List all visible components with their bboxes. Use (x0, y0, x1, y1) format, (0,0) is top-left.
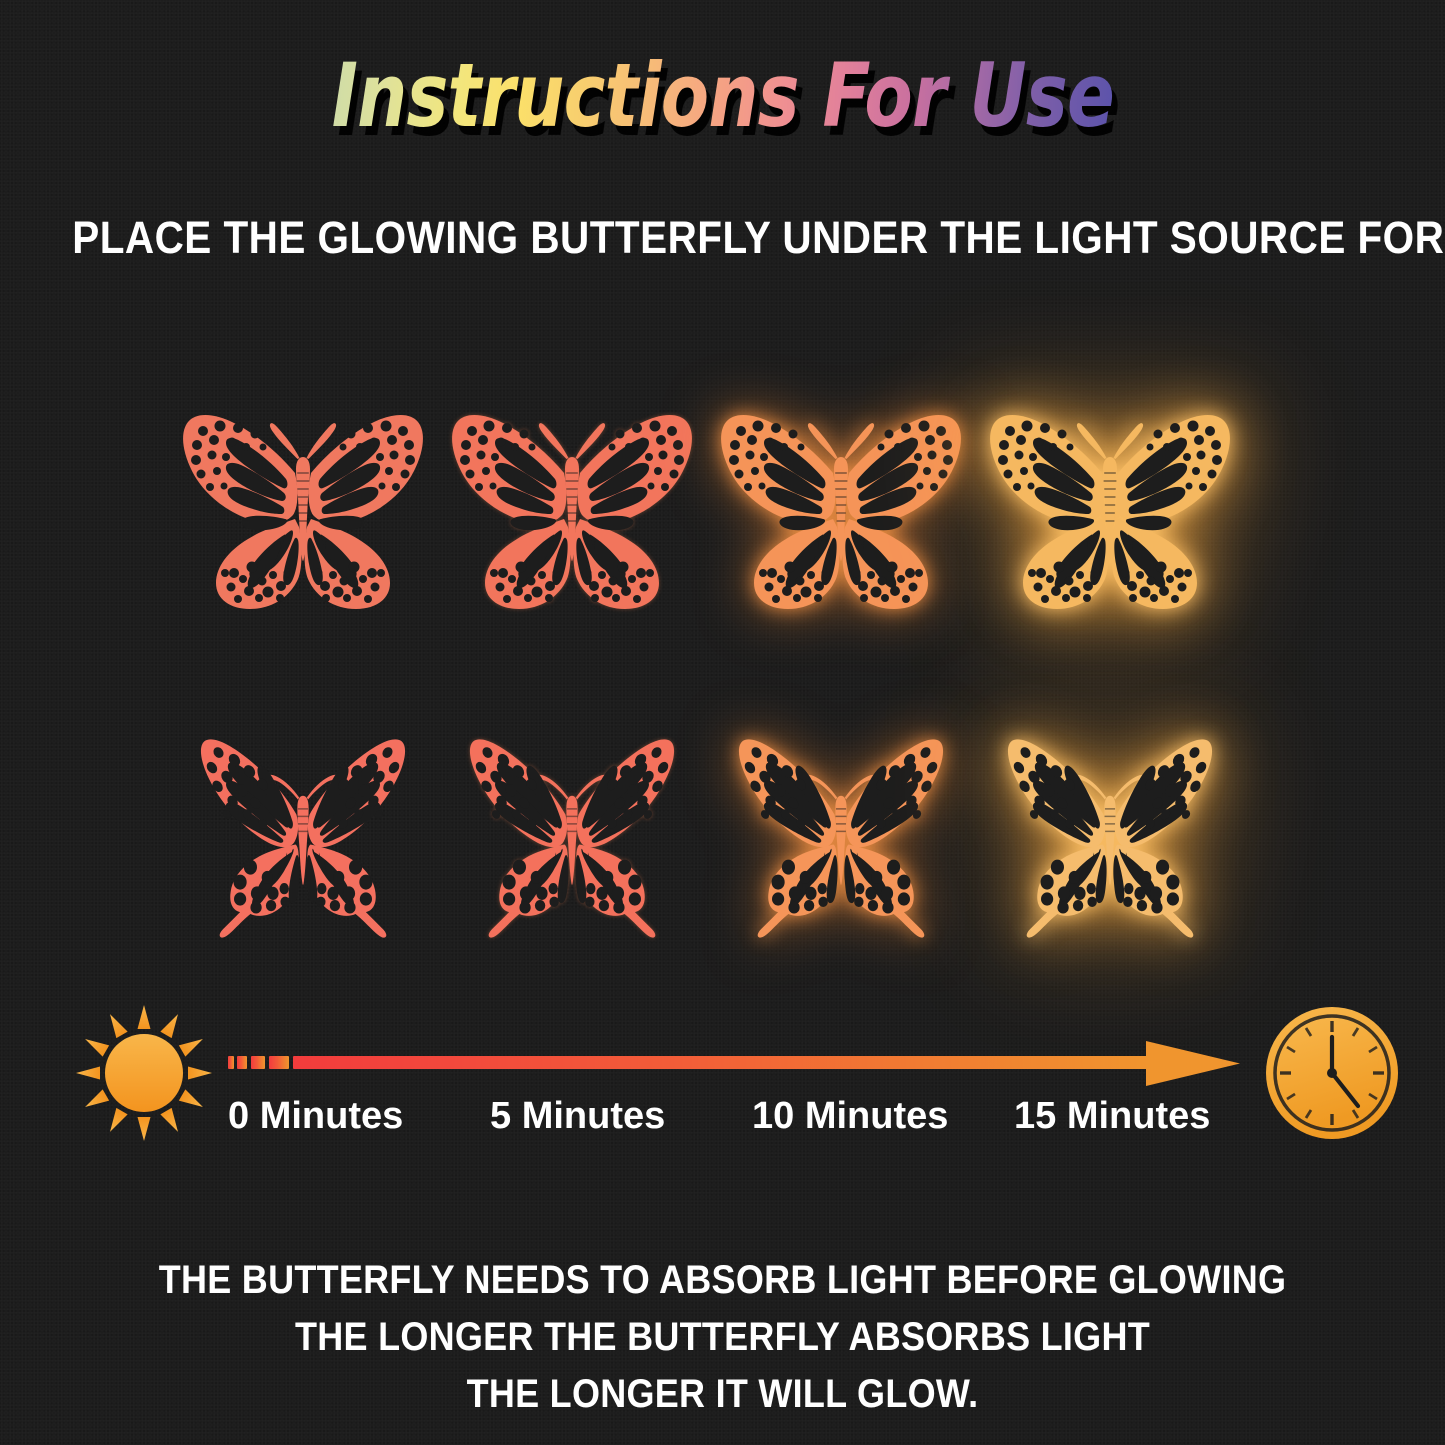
subtitle-text: PLACE THE GLOWING BUTTERFLY UNDER THE LI… (72, 214, 1373, 261)
butterfly-swallowtail-stage-10 (706, 715, 976, 945)
timeline-label-0: 0 Minutes (228, 1095, 403, 1138)
instructions-page: Instructions For Use PLACE THE GLOWING B… (0, 0, 1445, 1445)
arrow-head (1146, 1041, 1240, 1086)
timeline-arrow-bar (228, 1039, 1244, 1091)
page-title: Instructions For Use (331, 52, 1113, 140)
clock-icon-wrapper (1262, 1003, 1402, 1143)
butterfly-row-swallowtail (0, 715, 1445, 945)
timeline-label-10: 10 Minutes (752, 1095, 948, 1138)
sun-icon (74, 1003, 214, 1143)
butterfly-round-svg-stage-0 (168, 395, 438, 625)
page-title-container: Instructions For Use (0, 52, 1445, 140)
butterfly-round-stage-0 (168, 395, 438, 625)
butterfly-swallowtail-svg-stage-15 (975, 715, 1245, 945)
butterfly-swallowtail-svg-stage-0 (168, 715, 438, 945)
butterfly-row-round-wing (0, 395, 1445, 625)
butterfly-round-svg-stage-10 (706, 395, 976, 625)
timeline-label-15: 15 Minutes (1014, 1095, 1210, 1138)
arrow-dash-segments (228, 1056, 289, 1069)
butterfly-round-stage-10 (706, 395, 976, 625)
timeline-arrow-svg (228, 1039, 1244, 1091)
footer-line-3: THE LONGER IT WILL GLOW. (72, 1366, 1373, 1423)
clock-center-pin (1327, 1068, 1337, 1078)
butterfly-swallowtail-svg-stage-10 (706, 715, 976, 945)
butterfly-round-stage-5 (437, 395, 707, 625)
butterfly-swallowtail-stage-0 (168, 715, 438, 945)
butterfly-round-svg-stage-5 (437, 395, 707, 625)
clock-icon (1262, 1003, 1402, 1143)
footer-line-2: THE LONGER THE BUTTERFLY ABSORBS LIGHT (72, 1309, 1373, 1366)
footer-line-1: THE BUTTERFLY NEEDS TO ABSORB LIGHT BEFO… (72, 1252, 1373, 1309)
butterfly-round-stage-15 (975, 395, 1245, 625)
timeline-label-5: 5 Minutes (490, 1095, 665, 1138)
sun-icon-wrapper (74, 1003, 214, 1143)
butterfly-swallowtail-stage-5 (437, 715, 707, 945)
arrow-shaft (293, 1056, 1151, 1069)
footer-text: THE BUTTERFLY NEEDS TO ABSORB LIGHT BEFO… (0, 1252, 1445, 1422)
timeline: 0 Minutes 5 Minutes 10 Minutes 15 Minute… (0, 995, 1445, 1165)
butterfly-swallowtail-stage-15 (975, 715, 1245, 945)
butterfly-round-svg-stage-15 (975, 395, 1245, 625)
butterfly-swallowtail-svg-stage-5 (437, 715, 707, 945)
